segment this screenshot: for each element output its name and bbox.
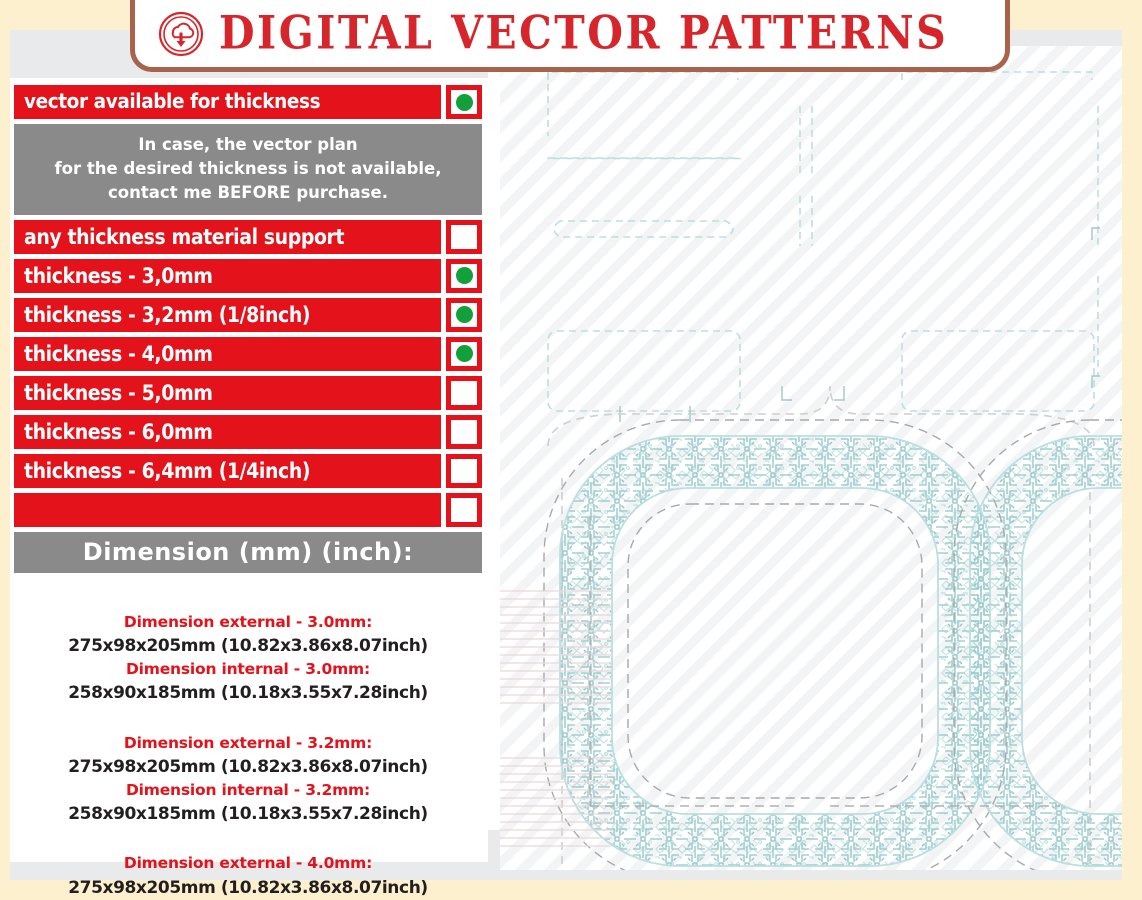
thickness-label: thickness - 4,0mm [14,337,441,371]
availability-header-text: vector available for thickness [24,91,320,113]
dimension-external-title: Dimension external - 4.0mm: [14,852,482,875]
dimension-internal-title: Dimension internal - 3.0mm: [14,658,482,681]
thickness-label: thickness - 3,2mm (1/8inch) [14,298,441,332]
dimension-external-value: 275x98x205mm (10.82x3.86x8.07inch) [14,755,482,779]
thickness-row-blank[interactable] [14,493,482,527]
thickness-row-40[interactable]: thickness - 4,0mm [14,337,482,371]
status-dot [456,306,473,323]
cut-outline-group [548,72,1098,411]
thickness-label-text: thickness - 3,2mm (1/8inch) [24,304,310,326]
page-title: DIGITAL VECTOR PATTERNS [219,11,948,57]
dimensions-body: Dimension external - 3.0mm: 275x98x205mm… [14,577,482,900]
thickness-label: thickness - 6,4mm (1/4inch) [14,454,441,488]
mandala-ring-left [540,426,1010,870]
dimensions-section-title: Dimension (mm) (inch): [14,532,482,573]
thickness-row-30[interactable]: thickness - 3,0mm [14,259,482,293]
availability-header-row[interactable]: vector available for thickness [14,85,482,119]
thickness-checkbox[interactable] [446,454,482,488]
thickness-checkbox[interactable] [446,298,482,332]
availability-header-label: vector available for thickness [14,85,441,119]
dimension-group-30: Dimension external - 3.0mm: 275x98x205mm… [14,611,482,706]
thickness-label [14,493,441,527]
panel-gap-shade [488,830,500,870]
dimension-external-value: 275x98x205mm (10.82x3.86x8.07inch) [14,634,482,658]
dimension-group-32: Dimension external - 3.2mm: 275x98x205mm… [14,732,482,827]
thickness-row-any[interactable]: any thickness material support [14,220,482,254]
thickness-checkbox[interactable] [446,220,482,254]
header-plaque: DIGITAL VECTOR PATTERNS [130,0,1010,72]
dimension-group-40: Dimension external - 4.0mm: 275x98x205mm… [14,852,482,900]
dimension-external-value: 275x98x205mm (10.82x3.86x8.07inch) [14,876,482,900]
note-line-2: for the desired thickness is not availab… [20,157,476,181]
thickness-checkbox[interactable] [446,376,482,410]
thickness-label: thickness - 5,0mm [14,376,441,410]
thickness-label-text: thickness - 6,4mm (1/4inch) [24,460,310,482]
thickness-checkbox[interactable] [446,337,482,371]
thickness-label: thickness - 3,0mm [14,259,441,293]
thickness-label: any thickness material support [14,220,441,254]
status-dot [456,267,473,284]
status-dot [456,345,473,362]
thickness-label-text: thickness - 3,0mm [24,265,213,287]
thickness-row-60[interactable]: thickness - 6,0mm [14,415,482,449]
thickness-checkbox[interactable] [446,415,482,449]
thickness-row-64[interactable]: thickness - 6,4mm (1/4inch) [14,454,482,488]
status-dot [456,94,473,111]
dimension-internal-value: 258x90x185mm (10.18x3.55x7.28inch) [14,681,482,705]
thickness-checkbox[interactable] [446,259,482,293]
thickness-label: thickness - 6,0mm [14,415,441,449]
note-line-3: contact me BEFORE purchase. [20,181,476,205]
dimension-internal-value: 258x90x185mm (10.18x3.55x7.28inch) [14,802,482,826]
vector-drawing-panel [500,46,1122,870]
thickness-label-text: thickness - 5,0mm [24,382,213,404]
thickness-label-text: thickness - 6,0mm [24,421,213,443]
thickness-checkbox[interactable] [446,493,482,527]
cream-border-left [0,0,10,900]
thickness-label-text: thickness - 4,0mm [24,343,213,365]
cream-border-right [1122,0,1142,900]
specs-column: vector available for thickness In case, … [14,85,482,900]
poster-canvas: DIGITAL VECTOR PATTERNS vector available… [0,0,1142,900]
dimension-external-title: Dimension external - 3.0mm: [14,611,482,634]
availability-header-checkbox[interactable] [446,85,482,119]
registration-ticks [620,228,1100,422]
panel-gap-column [488,46,500,870]
thickness-row-50[interactable]: thickness - 5,0mm [14,376,482,410]
thickness-row-32[interactable]: thickness - 3,2mm (1/8inch) [14,298,482,332]
purchase-note: In case, the vector plan for the desired… [14,124,482,215]
note-line-1: In case, the vector plan [20,133,476,157]
vector-drawing-svg [500,46,1122,870]
thickness-label-text: any thickness material support [24,226,344,248]
dimension-external-title: Dimension external - 3.2mm: [14,732,482,755]
dimension-internal-title: Dimension internal - 3.2mm: [14,779,482,802]
cloud-download-icon [157,10,205,58]
